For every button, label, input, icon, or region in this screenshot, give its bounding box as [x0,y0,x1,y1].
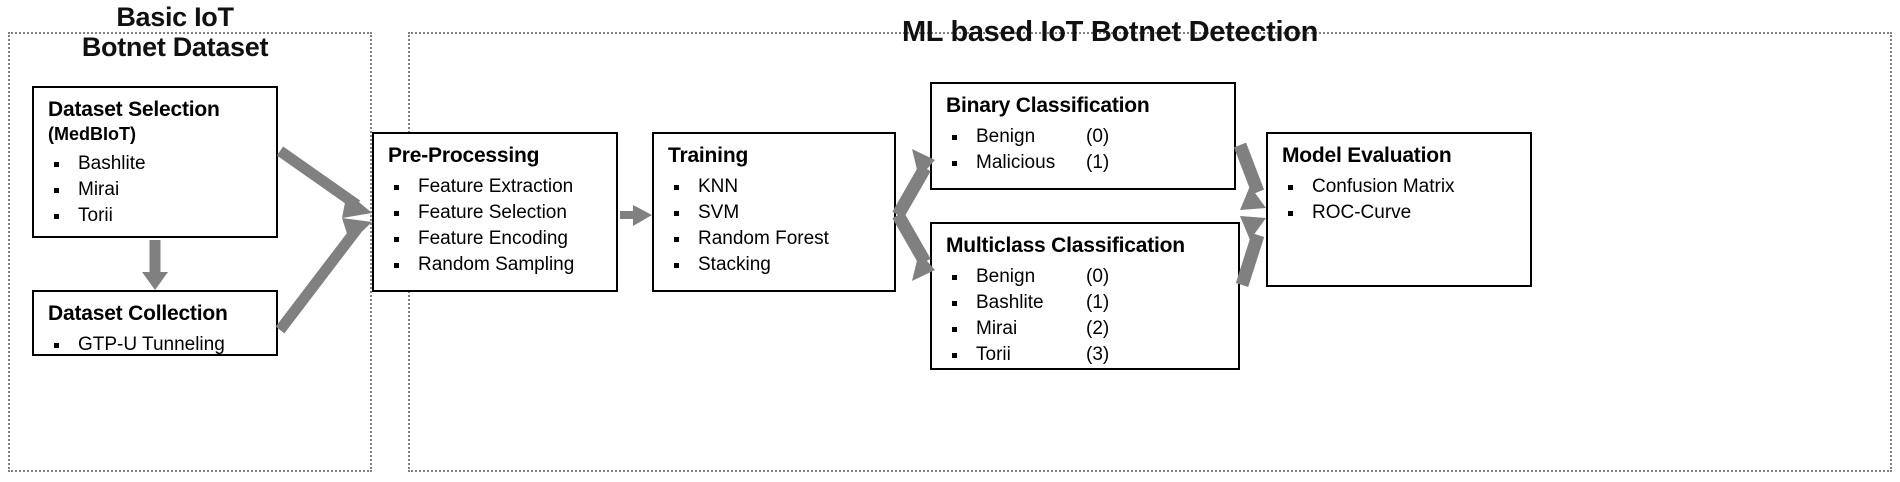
list-binary-classification: Benign(0) Malicious(1) [946,124,1220,176]
box-model-evaluation[interactable]: Model Evaluation Confusion Matrix ROC-Cu… [1266,132,1532,287]
list-item: Random Forest [668,226,880,252]
class-code: (2) [1086,318,1109,339]
box-multiclass-classification[interactable]: Multiclass Classification Benign(0) Bash… [930,222,1240,370]
list-item: Torii [48,203,262,229]
box-binary-classification[interactable]: Binary Classification Benign(0) Maliciou… [930,82,1236,190]
list-item: Benign(0) [946,124,1220,150]
class-code: (0) [1086,266,1109,287]
list-item: KNN [668,174,880,200]
list-pre-processing: Feature Extraction Feature Selection Fea… [388,174,602,277]
list-item: SVM [668,200,880,226]
box-title-dataset-collection: Dataset Collection [48,302,262,326]
list-training: KNN SVM Random Forest Stacking [668,174,880,277]
list-item: Stacking [668,252,880,278]
list-item: Benign(0) [946,264,1224,290]
box-dataset-collection[interactable]: Dataset Collection GTP-U Tunneling [32,290,278,356]
list-item: Torii(3) [946,342,1224,368]
list-item: Random Sampling [388,252,602,278]
list-item: Bashlite [48,151,262,177]
box-subtitle-dataset-selection: (MedBIoT) [48,124,262,145]
class-label: Benign [976,124,1086,150]
class-label: Bashlite [976,290,1086,316]
class-label: Mirai [976,316,1086,342]
box-dataset-selection[interactable]: Dataset Selection (MedBIoT) Bashlite Mir… [32,86,278,238]
list-dataset-collection: GTP-U Tunneling [48,332,262,358]
group-title-basic-iot-botnet-dataset: Basic IoT Botnet Dataset [30,2,320,62]
box-title-pre-processing: Pre-Processing [388,144,602,168]
box-title-dataset-selection: Dataset Selection [48,98,262,122]
box-title-model-evaluation: Model Evaluation [1282,144,1516,168]
list-item: Feature Selection [388,200,602,226]
class-code: (3) [1086,344,1109,365]
class-code: (0) [1086,126,1109,147]
list-item: Bashlite(1) [946,290,1224,316]
list-item: GTP-U Tunneling [48,332,262,358]
box-title-binary-classification: Binary Classification [946,94,1220,118]
list-item: Malicious(1) [946,150,1220,176]
class-label: Torii [976,342,1086,368]
box-title-training: Training [668,144,880,168]
list-item: Mirai [48,177,262,203]
box-training[interactable]: Training KNN SVM Random Forest Stacking [652,132,896,292]
class-code: (1) [1086,152,1109,173]
group-title-ml-based-iot-botnet-detection: ML based IoT Botnet Detection [760,16,1460,48]
diagram-canvas: Basic IoT Botnet Dataset ML based IoT Bo… [0,0,1900,482]
class-label: Malicious [976,150,1086,176]
list-dataset-selection: Bashlite Mirai Torii [48,151,262,228]
list-item: ROC-Curve [1282,200,1516,226]
list-item: Feature Encoding [388,226,602,252]
list-item: Feature Extraction [388,174,602,200]
list-item: Confusion Matrix [1282,174,1516,200]
box-pre-processing[interactable]: Pre-Processing Feature Extraction Featur… [372,132,618,292]
list-multiclass-classification: Benign(0) Bashlite(1) Mirai(2) Torii(3) [946,264,1224,367]
class-label: Benign [976,264,1086,290]
list-model-evaluation: Confusion Matrix ROC-Curve [1282,174,1516,226]
class-code: (1) [1086,292,1109,313]
list-item: Mirai(2) [946,316,1224,342]
box-title-multiclass-classification: Multiclass Classification [946,234,1224,258]
